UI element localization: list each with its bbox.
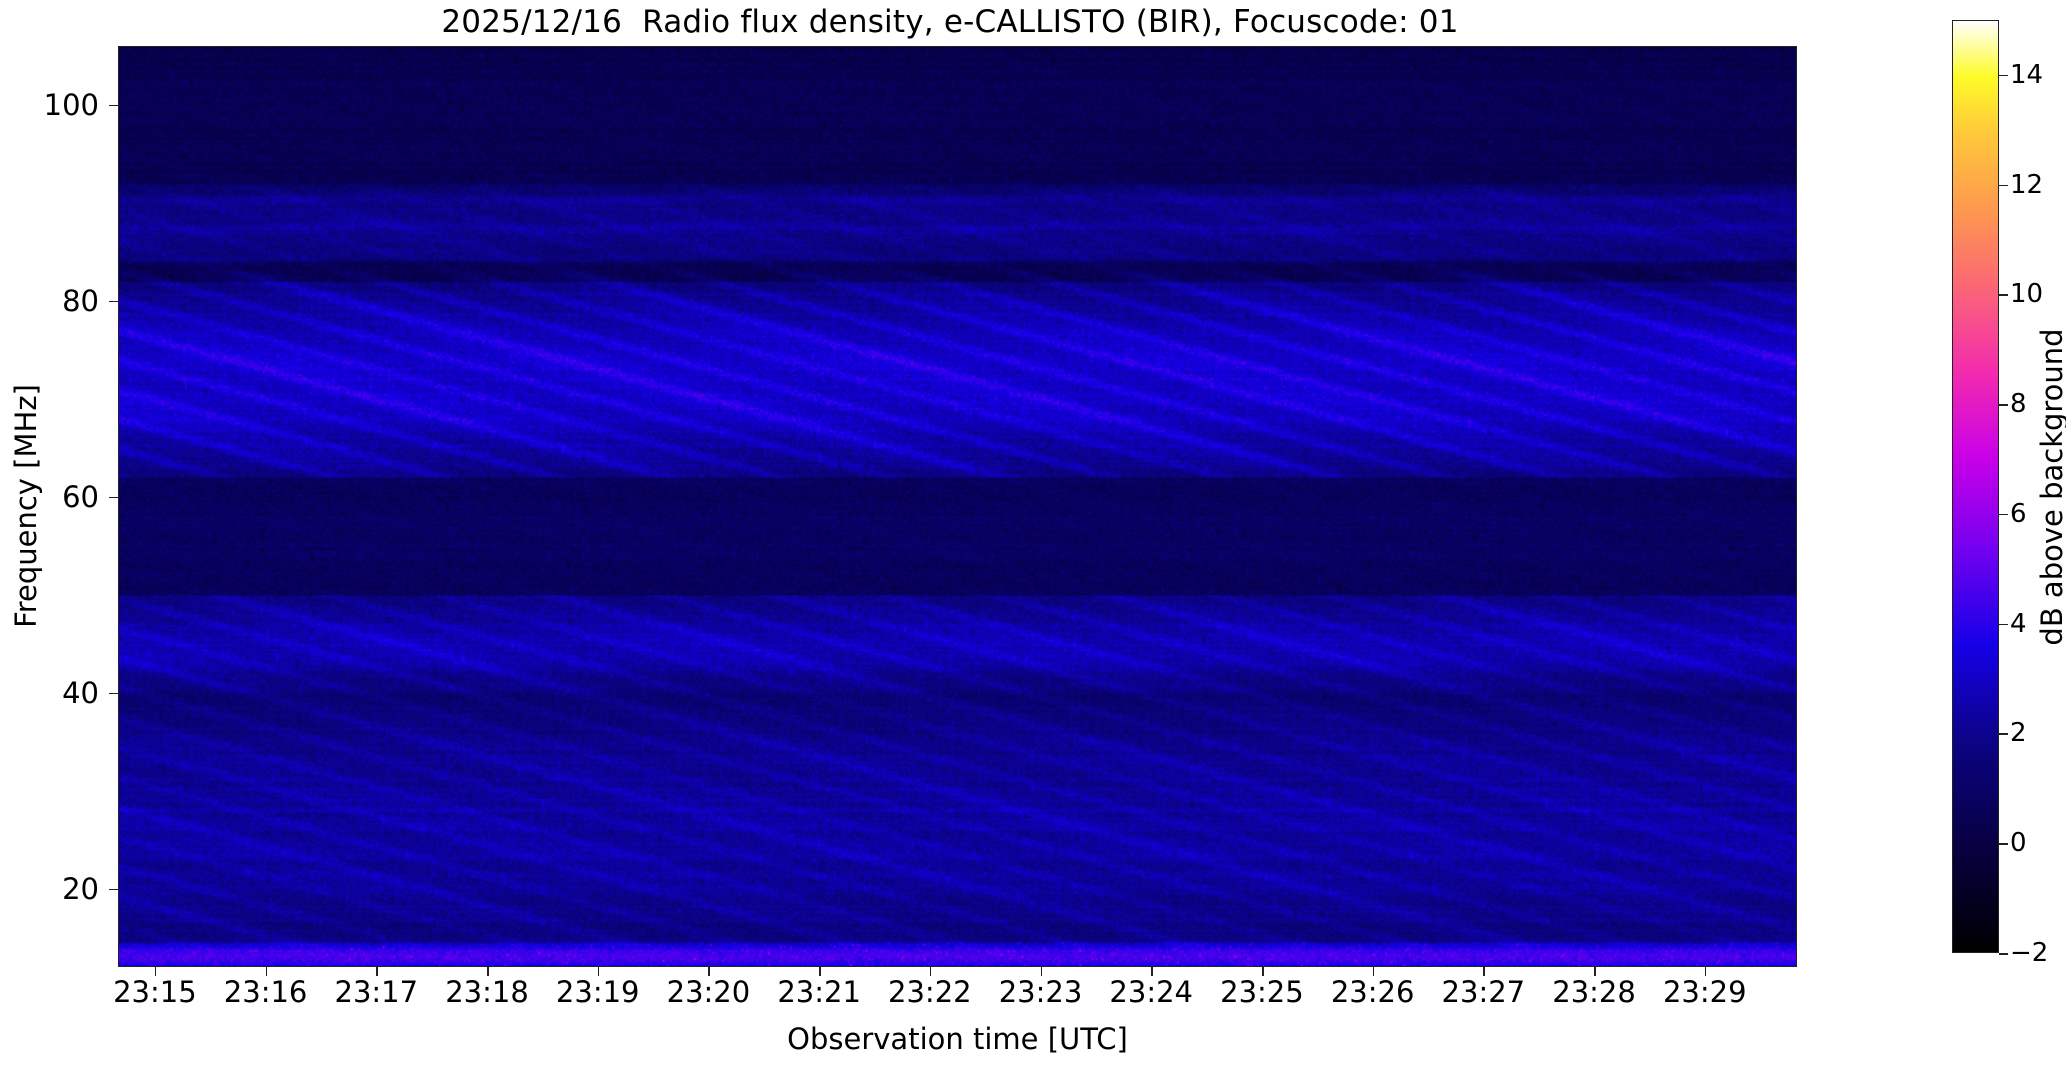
y-tick-mark [109,105,118,107]
y-tick-label: 80 [19,284,99,318]
x-tick-label: 23:28 [1552,975,1636,1009]
x-tick-label: 23:22 [888,975,972,1009]
y-tick-mark [109,693,118,695]
colorbar-tick-mark [1999,733,2008,735]
y-tick-label: 20 [19,872,99,906]
colorbar-gradient [1953,21,1998,952]
y-tick-label: 100 [19,88,99,122]
colorbar-tick-label: 8 [2010,389,2027,419]
colorbar-tick-label: 12 [2010,170,2043,200]
colorbar-tick-label: 14 [2010,60,2043,90]
colorbar-tick-label: 4 [2010,609,2027,639]
y-tick-mark [109,889,118,891]
x-axis-label: Observation time [UTC] [118,1022,1797,1056]
y-tick-label: 40 [19,676,99,710]
colorbar-tick-label: 0 [2010,828,2027,858]
colorbar-tick-mark [1999,75,2008,77]
x-tick-label: 23:26 [1331,975,1415,1009]
colorbar-tick-mark [1999,843,2008,845]
colorbar-tick-label: 2 [2010,718,2027,748]
colorbar-tick-mark [1999,953,2008,955]
x-tick-label: 23:19 [556,975,640,1009]
colorbar-tick-mark [1999,294,2008,296]
x-tick-label: 23:21 [777,975,861,1009]
colorbar-tick-mark [1999,514,2008,516]
spectrogram-axes[interactable] [118,46,1797,967]
figure-canvas: 2025/12/16 Radio flux density, e-CALLIST… [0,0,2066,1067]
y-tick-label: 60 [19,480,99,514]
colorbar-tick-mark [1999,624,2008,626]
x-tick-label: 23:25 [1220,975,1304,1009]
x-tick-label: 23:27 [1442,975,1526,1009]
x-tick-label: 23:15 [113,975,197,1009]
x-tick-label: 23:23 [999,975,1083,1009]
figure-title: 2025/12/16 Radio flux density, e-CALLIST… [0,4,1900,40]
x-tick-label: 23:24 [1109,975,1193,1009]
x-tick-label: 23:29 [1663,975,1747,1009]
colorbar-label: dB above background [2035,328,2066,645]
colorbar-tick-mark [1999,185,2008,187]
spectrogram-pixels [119,47,1796,966]
x-tick-label: 23:20 [667,975,751,1009]
y-tick-mark [109,301,118,303]
x-tick-label: 23:17 [335,975,419,1009]
spectrogram-image [119,47,1796,966]
y-tick-mark [109,497,118,499]
colorbar-tick-mark [1999,404,2008,406]
colorbar[interactable] [1952,20,1999,953]
colorbar-tick-label: −2 [2010,938,2048,968]
x-tick-label: 23:16 [224,975,308,1009]
colorbar-tick-label: 6 [2010,499,2027,529]
colorbar-tick-label: 10 [2010,279,2043,309]
x-tick-label: 23:18 [445,975,529,1009]
